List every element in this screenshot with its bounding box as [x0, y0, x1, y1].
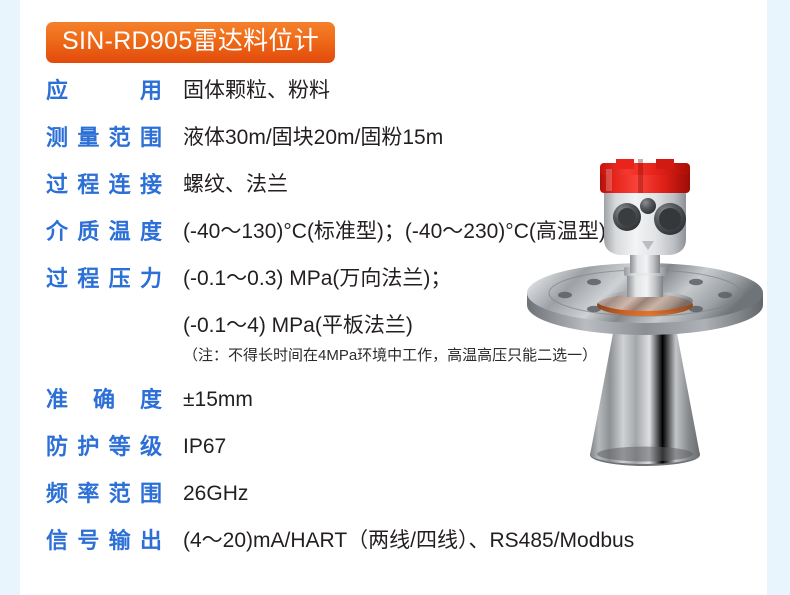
- spec-row-measuring-range: 测量范围 液体30m/固块20m/固粉15m: [46, 123, 706, 153]
- spec-value-protection-rating: IP67: [183, 432, 226, 462]
- spec-label-measuring-range: 测量范围: [46, 123, 162, 153]
- spec-row-signal-output: 信号输出 (4〜20)mA/HART（两线/四线）、RS485/Modbus: [46, 526, 706, 556]
- neck-coupling-group: [624, 251, 666, 297]
- vent-port-center: [640, 198, 656, 214]
- spec-label-process-pressure: 过程压力: [46, 264, 162, 294]
- spec-label-accuracy: 准 确 度: [46, 385, 162, 415]
- spec-label-frequency-range: 频率范围: [46, 479, 162, 509]
- spec-value-frequency-range: 26GHz: [183, 479, 248, 509]
- product-spec-page: SIN-RD905雷达料位计 应 用 固体颗粒、粉料 测量范围 液体30m/固块…: [0, 0, 790, 595]
- spec-value-measuring-range: 液体30m/固块20m/固粉15m: [183, 123, 443, 153]
- spec-value-application: 固体颗粒、粉料: [183, 76, 330, 106]
- spec-label-signal-output: 信号输出: [46, 526, 162, 556]
- spec-value-process-connection: 螺纹、法兰: [183, 170, 288, 200]
- spec-value-accuracy: ±15mm: [183, 385, 253, 415]
- right-edge-strip: [767, 0, 790, 595]
- spec-label-protection-rating: 防护等级: [46, 432, 162, 462]
- spec-value-process-pressure-second: (-0.1〜4) MPa(平板法兰): [183, 311, 413, 341]
- spec-row-application: 应 用 固体颗粒、粉料: [46, 76, 706, 106]
- spec-label-process-connection: 过程连接: [46, 170, 162, 200]
- spec-value-process-pressure: (-0.1〜0.3) MPa(万向法兰)；: [183, 264, 451, 294]
- red-protective-cap-group: [600, 159, 690, 193]
- spec-label-medium-temperature: 介质温度: [46, 217, 162, 247]
- radar-level-meter-image: [520, 155, 770, 485]
- spec-label-application: 应 用: [46, 76, 162, 106]
- left-edge-strip: [0, 0, 20, 595]
- spec-value-signal-output: (4〜20)mA/HART（两线/四线）、RS485/Modbus: [183, 526, 634, 556]
- transmitter-housing-group: [604, 185, 686, 255]
- product-title-badge-container: SIN-RD905雷达料位计: [46, 22, 335, 63]
- product-title-badge: SIN-RD905雷达料位计: [46, 22, 335, 63]
